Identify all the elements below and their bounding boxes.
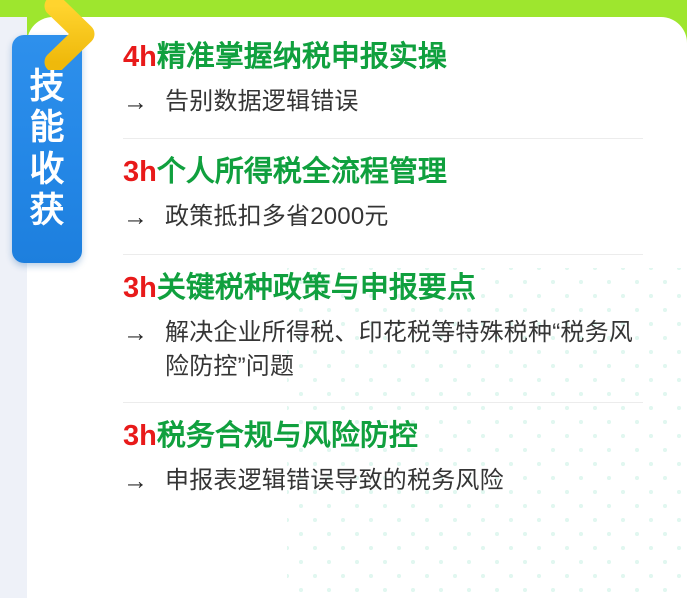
item-hours: 4h (123, 41, 157, 73)
item-headline: 3h个人所得税全流程管理 (123, 155, 643, 191)
item-hours: 3h (123, 420, 157, 452)
item-detail-text: 政策抵扣多省2000元 (165, 200, 643, 234)
item-headline: 4h精准掌握纳税申报实操 (123, 40, 643, 76)
side-tab-char-2: 能 (29, 110, 64, 146)
item-title: 税务合规与风险防控 (157, 420, 418, 452)
side-tab-skills-gain[interactable]: 技 能 收 获 (12, 35, 82, 263)
list-item[interactable]: 3h税务合规与风险防控 → 申报表逻辑错误导致的税务风险 (123, 402, 643, 517)
list-item[interactable]: 3h关键税种政策与申报要点 → 解决企业所得税、印花税等特殊税种“税务风险防控”… (123, 254, 643, 402)
side-tab-char-4: 获 (29, 193, 64, 229)
arrow-bullet-icon: → (123, 464, 165, 500)
item-title: 个人所得税全流程管理 (157, 156, 447, 188)
side-tab-label: 技 能 收 获 (12, 35, 82, 263)
list-item[interactable]: 3h个人所得税全流程管理 → 政策抵扣多省2000元 (123, 138, 643, 253)
item-detail-row: → 政策抵扣多省2000元 (123, 200, 643, 236)
item-title: 关键税种政策与申报要点 (157, 272, 476, 304)
course-list: 4h精准掌握纳税申报实操 → 告别数据逻辑错误 3h个人所得税全流程管理 → 政… (123, 24, 643, 517)
item-headline: 3h关键税种政策与申报要点 (123, 271, 643, 307)
item-detail-row: → 解决企业所得税、印花税等特殊税种“税务风险防控”问题 (123, 316, 643, 384)
item-detail-row: → 申报表逻辑错误导致的税务风险 (123, 464, 643, 500)
arrow-bullet-icon: → (123, 85, 165, 121)
item-title: 精准掌握纳税申报实操 (157, 41, 447, 73)
item-detail-text: 告别数据逻辑错误 (165, 85, 643, 119)
item-hours: 3h (123, 156, 157, 188)
list-item[interactable]: 4h精准掌握纳税申报实操 → 告别数据逻辑错误 (123, 24, 643, 138)
item-headline: 3h税务合规与风险防控 (123, 419, 643, 455)
item-hours: 3h (123, 272, 157, 304)
side-tab-char-3: 收 (29, 152, 64, 188)
item-detail-text: 解决企业所得税、印花税等特殊税种“税务风险防控”问题 (165, 316, 643, 384)
skills-gain-poster: 技 能 收 获 4h精准掌握纳税申报实操 → 告别数据逻辑错误 (0, 0, 687, 598)
item-detail-text: 申报表逻辑错误导致的税务风险 (165, 464, 643, 498)
arrow-bullet-icon: → (123, 200, 165, 236)
item-detail-row: → 告别数据逻辑错误 (123, 85, 643, 121)
side-tab-char-1: 技 (29, 69, 64, 105)
arrow-bullet-icon: → (123, 316, 165, 352)
